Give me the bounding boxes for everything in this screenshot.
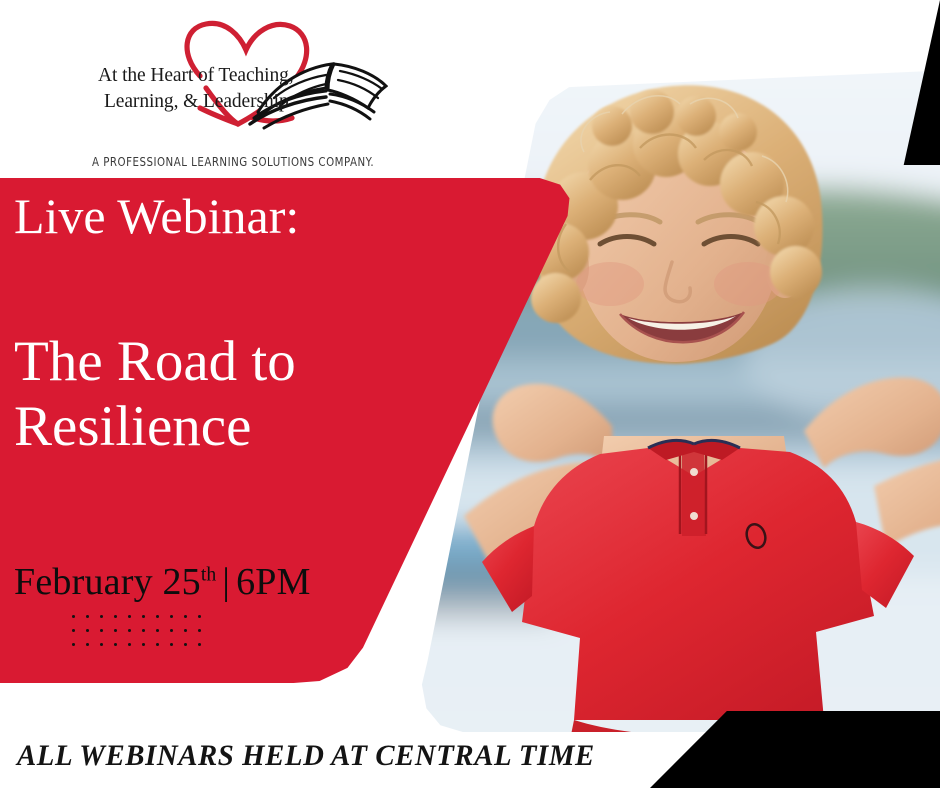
decorative-dot — [86, 615, 89, 618]
decorative-dot — [72, 629, 75, 632]
decorative-dot — [114, 615, 117, 618]
logo-text-line-2: Learning, & Leadership — [104, 91, 289, 113]
decorative-dot — [156, 629, 159, 632]
decorative-dot — [100, 615, 103, 618]
hero-photo — [404, 56, 940, 732]
decorative-dot — [114, 643, 117, 646]
decorative-dot — [128, 643, 131, 646]
headline-webinar-title: The Road to Resilience — [14, 330, 424, 460]
decorative-dot — [198, 643, 201, 646]
headline-live-webinar: Live Webinar: — [14, 190, 299, 243]
decorative-dot — [184, 643, 187, 646]
date-time: 6PM — [236, 561, 311, 603]
webinar-poster: Live Webinar: The Road to Resilience Feb… — [0, 0, 940, 788]
decorative-dot — [86, 629, 89, 632]
decorative-dot — [128, 615, 131, 618]
decorative-dot — [184, 629, 187, 632]
date-separator: | — [216, 561, 236, 603]
decorative-dot — [128, 629, 131, 632]
decorative-dot — [86, 643, 89, 646]
decorative-dot-grid — [72, 615, 212, 657]
webinar-date-time: February 25th|6PM — [14, 560, 311, 604]
logo-tagline: A PROFESSIONAL LEARNING SOLUTIONS COMPAN… — [92, 154, 330, 169]
decorative-dot — [72, 615, 75, 618]
date-month-day: February 25 — [14, 561, 201, 603]
decorative-dot — [100, 643, 103, 646]
decorative-dot — [72, 643, 75, 646]
decorative-dot — [198, 629, 201, 632]
decorative-dot — [170, 615, 173, 618]
decorative-dot — [184, 615, 187, 618]
logo-text-line-1: At the Heart of Teaching, — [98, 65, 294, 87]
decorative-dot — [142, 615, 145, 618]
decorative-dot — [100, 629, 103, 632]
decorative-dot — [170, 629, 173, 632]
company-logo: At the Heart of Teaching, Learning, & Le… — [88, 18, 388, 168]
footer-timezone-note: ALL WEBINARS HELD AT CENTRAL TIME — [17, 739, 595, 773]
decorative-dot — [142, 643, 145, 646]
decorative-dot — [142, 629, 145, 632]
decorative-dot — [114, 629, 117, 632]
banner-content: Live Webinar: The Road to Resilience Feb… — [0, 178, 440, 683]
decorative-dot — [156, 615, 159, 618]
date-ordinal-suffix: th — [201, 563, 216, 585]
hero-photo-panel — [404, 56, 940, 732]
decorative-dot — [170, 643, 173, 646]
decorative-dot — [198, 615, 201, 618]
decorative-dot — [156, 643, 159, 646]
